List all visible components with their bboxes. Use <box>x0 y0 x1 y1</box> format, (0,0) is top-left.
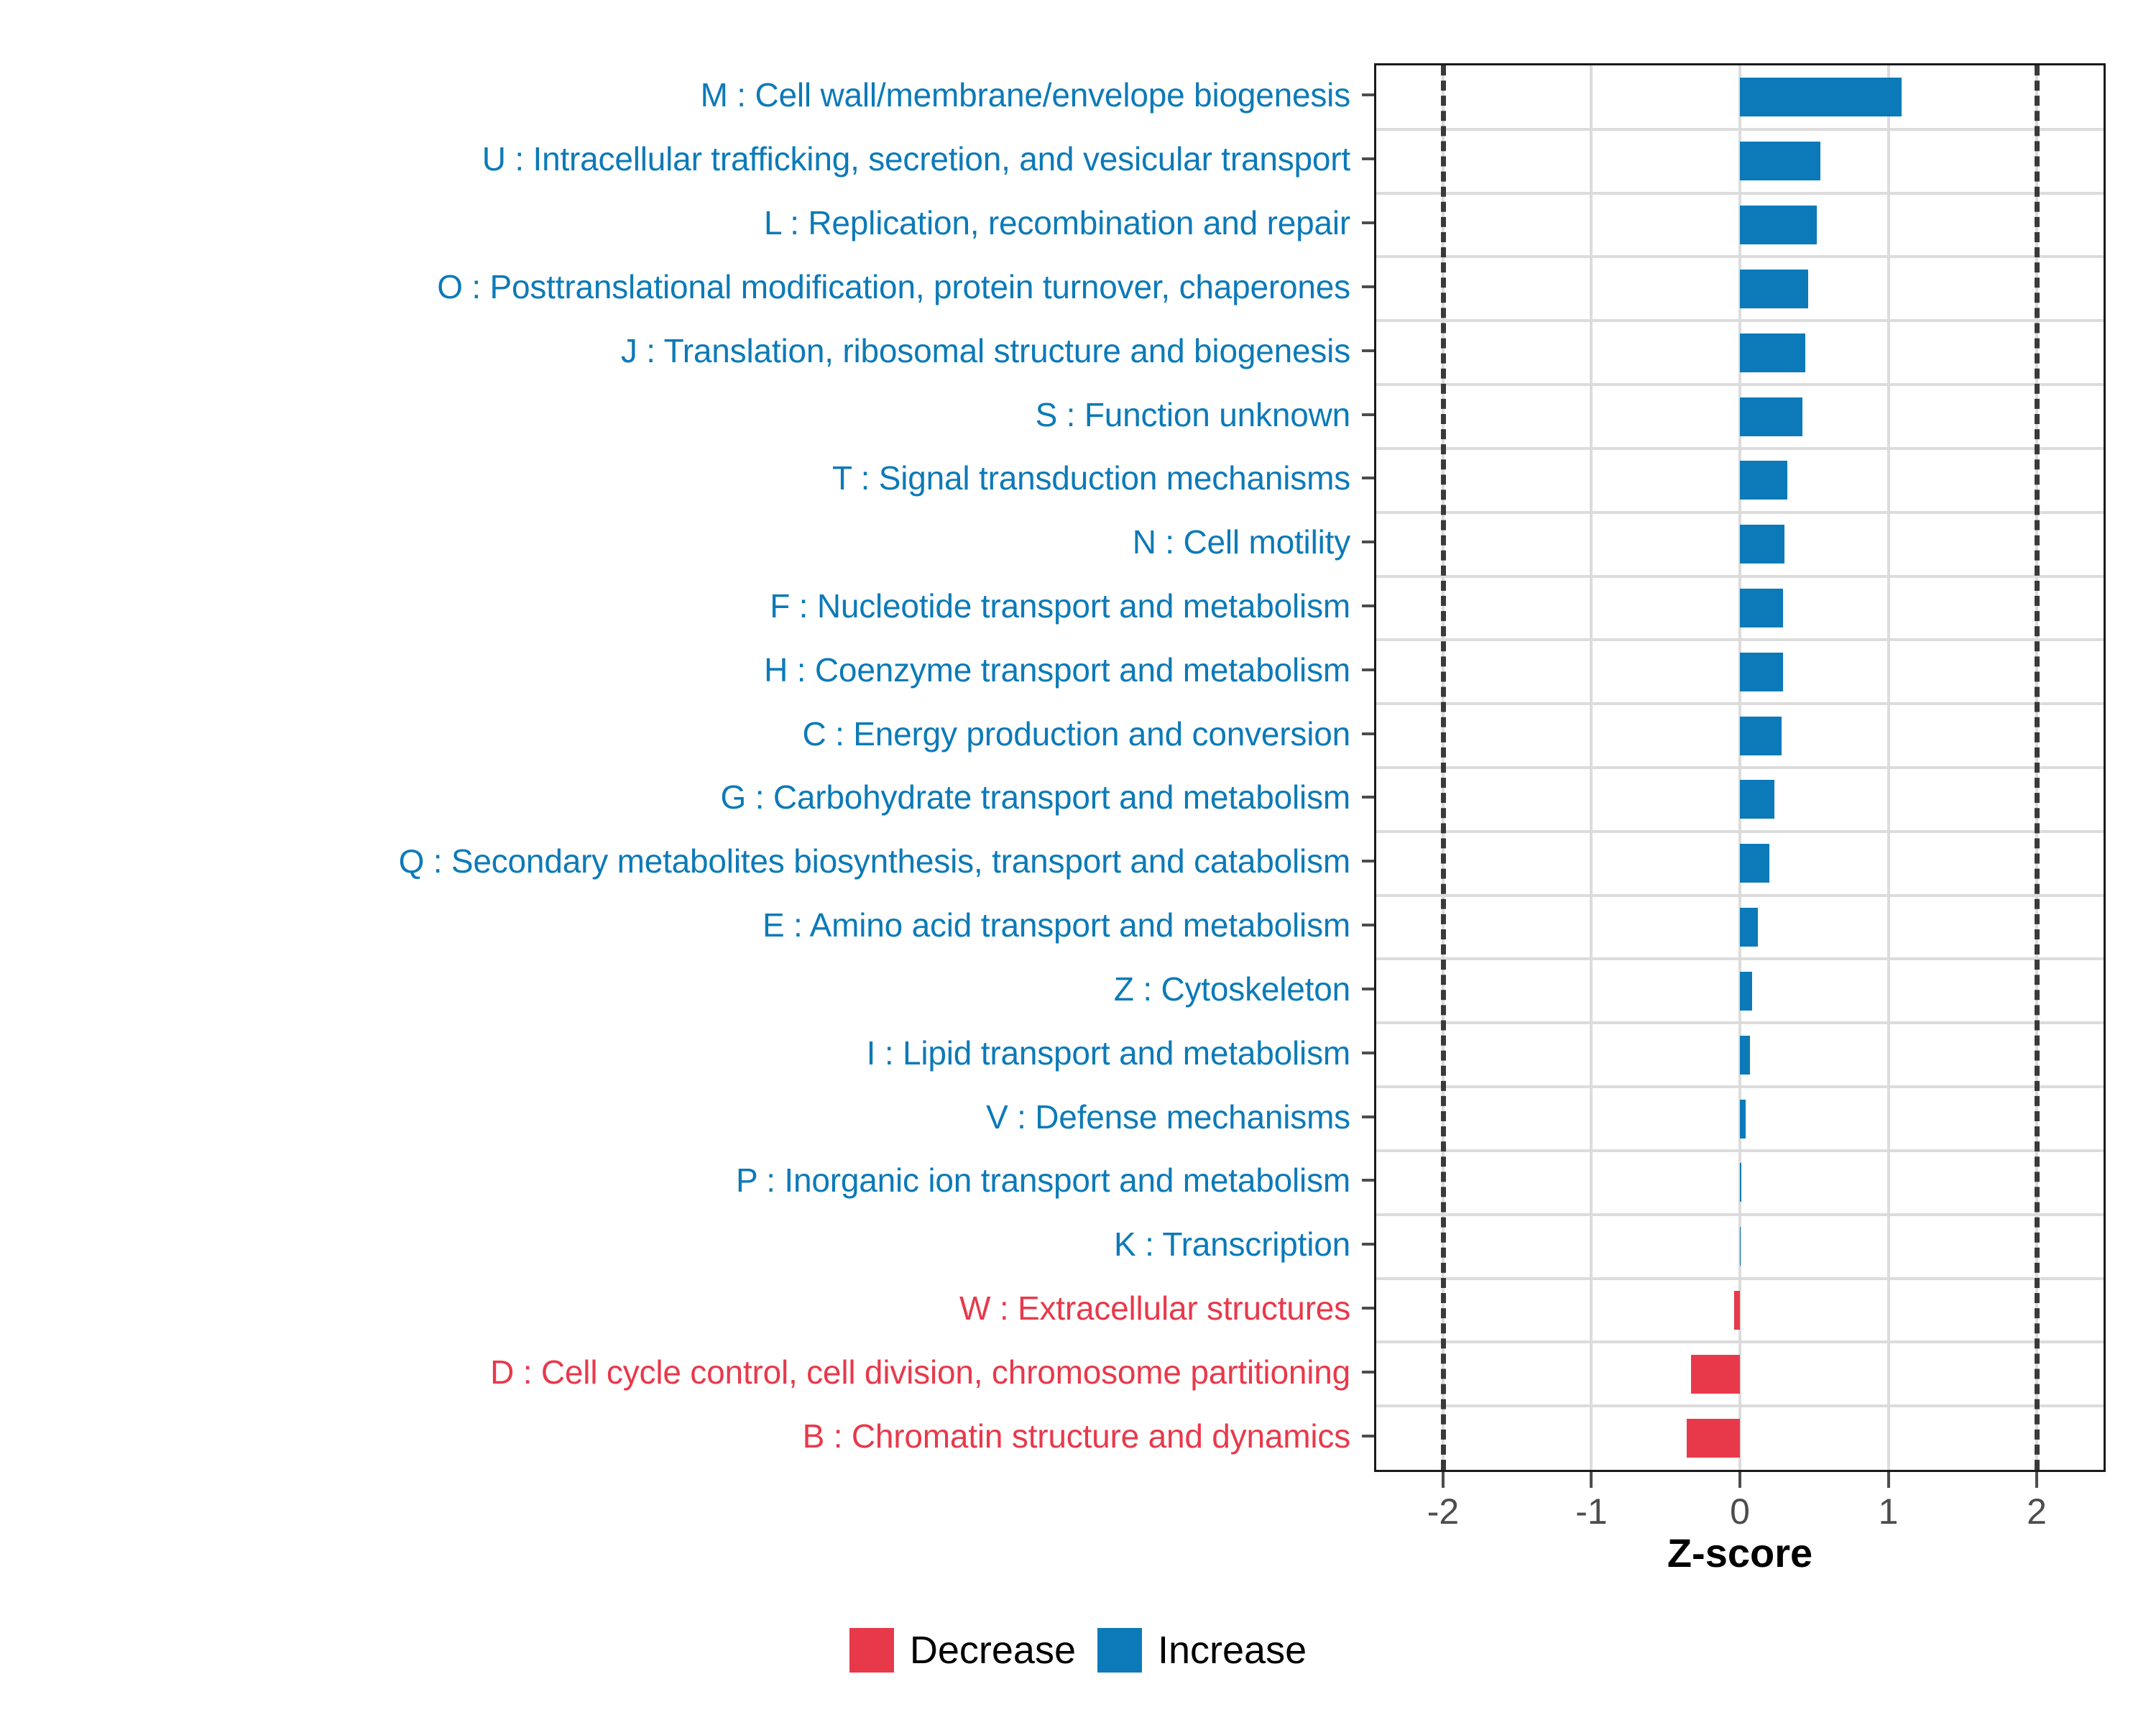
category-label: G : Carbohydrate transport and metabolis… <box>721 781 1350 814</box>
y-axis-tick <box>1362 540 1374 543</box>
category-label: P : Inorganic ion transport and metaboli… <box>736 1164 1350 1197</box>
bar[interactable] <box>1740 1163 1741 1202</box>
category-label-row: M : Cell wall/membrane/envelope biogenes… <box>0 70 1362 119</box>
gridline-horizontal <box>1376 192 2104 195</box>
gridline-horizontal <box>1376 1340 2104 1343</box>
category-label-row: K : Transcription <box>0 1220 1362 1269</box>
bar[interactable] <box>1740 717 1782 755</box>
legend-item-decrease[interactable]: Decrease <box>849 1628 1076 1673</box>
gridline-horizontal <box>1376 319 2104 322</box>
gridline-horizontal <box>1376 766 2104 769</box>
y-axis-tick <box>1362 1435 1374 1437</box>
plot-inner <box>1376 65 2104 1470</box>
reference-line <box>1441 65 1446 1470</box>
category-label: Z : Cytoskeleton <box>1114 972 1350 1006</box>
bar[interactable] <box>1740 589 1783 627</box>
category-label-row: N : Cell motility <box>0 517 1362 566</box>
y-axis-tick <box>1362 93 1374 96</box>
category-label-row: Q : Secondary metabolites biosynthesis, … <box>0 837 1362 885</box>
y-axis-tick <box>1362 988 1374 990</box>
category-label-row: L : Replication, recombination and repai… <box>0 198 1362 247</box>
category-label-row: V : Defense mechanisms <box>0 1092 1362 1141</box>
category-label-row: O : Posttranslational modification, prot… <box>0 262 1362 311</box>
bar[interactable] <box>1740 653 1783 691</box>
category-label-row: J : Translation, ribosomal structure and… <box>0 326 1362 375</box>
y-axis-tick <box>1362 1179 1374 1182</box>
gridline-horizontal <box>1376 1085 2104 1088</box>
category-label: L : Replication, recombination and repai… <box>764 206 1350 239</box>
category-label: O : Posttranslational modification, prot… <box>437 270 1350 303</box>
category-label-row: Z : Cytoskeleton <box>0 965 1362 1013</box>
legend-label-decrease: Decrease <box>910 1628 1076 1673</box>
plot-panel <box>1374 63 2106 1472</box>
bar[interactable] <box>1740 270 1808 308</box>
x-axis-tick <box>1738 1472 1741 1488</box>
y-axis-tick <box>1362 604 1374 607</box>
y-axis-tick <box>1362 157 1374 160</box>
legend: Decrease Increase <box>0 1628 2156 1673</box>
x-axis-title: Z-score <box>1374 1529 2106 1576</box>
gridline-horizontal <box>1376 1277 2104 1280</box>
x-axis-tick-label: 1 <box>1879 1491 1899 1532</box>
bar[interactable] <box>1740 844 1769 883</box>
legend-swatch-increase <box>1097 1628 1142 1673</box>
category-label: U : Intracellular trafficking, secretion… <box>482 142 1350 175</box>
x-axis-tick-label: 2 <box>2027 1491 2047 1532</box>
gridline-horizontal <box>1376 511 2104 514</box>
category-label: F : Nucleotide transport and metabolism <box>770 589 1350 622</box>
legend-swatch-decrease <box>849 1628 894 1673</box>
bar[interactable] <box>1687 1419 1740 1458</box>
category-label: E : Amino acid transport and metabolism <box>763 908 1350 942</box>
bar[interactable] <box>1740 78 1902 116</box>
gridline-horizontal <box>1376 255 2104 258</box>
bar[interactable] <box>1740 1100 1746 1138</box>
gridline-horizontal <box>1376 830 2104 833</box>
y-axis-tick <box>1362 732 1374 735</box>
y-axis-tick <box>1362 1243 1374 1246</box>
category-label: B : Chromatin structure and dynamics <box>803 1420 1350 1453</box>
gridline-horizontal <box>1376 1021 2104 1024</box>
x-axis-tick-label: 0 <box>1730 1491 1750 1532</box>
bar[interactable] <box>1740 525 1784 563</box>
y-axis-tick <box>1362 285 1374 288</box>
y-axis-tick <box>1362 924 1374 926</box>
category-label-row: G : Carbohydrate transport and metabolis… <box>0 773 1362 822</box>
category-label: Q : Secondary metabolites biosynthesis, … <box>399 845 1350 878</box>
category-label: D : Cell cycle control, cell division, c… <box>490 1356 1350 1389</box>
y-axis-tick <box>1362 668 1374 671</box>
category-label: M : Cell wall/membrane/envelope biogenes… <box>701 78 1350 111</box>
category-label: T : Signal transduction mechanisms <box>832 461 1350 494</box>
x-axis-tick <box>1590 1472 1593 1488</box>
category-label: V : Defense mechanisms <box>986 1100 1350 1133</box>
category-label-row: T : Signal transduction mechanisms <box>0 454 1362 502</box>
y-axis-tick <box>1362 413 1374 416</box>
category-label-row: I : Lipid transport and metabolism <box>0 1029 1362 1077</box>
x-axis-tick-label: -2 <box>1427 1491 1459 1532</box>
x-axis-tick <box>1887 1472 1890 1488</box>
x-axis-tick <box>1442 1472 1445 1488</box>
bar[interactable] <box>1740 1036 1750 1075</box>
y-axis-tick <box>1362 477 1374 479</box>
category-label: S : Function unknown <box>1036 398 1350 431</box>
category-label: N : Cell motility <box>1133 525 1350 558</box>
cog-zscore-chart: M : Cell wall/membrane/envelope biogenes… <box>0 0 2156 1725</box>
legend-label-increase: Increase <box>1158 1628 1307 1673</box>
gridline-horizontal <box>1376 383 2104 386</box>
category-label: J : Translation, ribosomal structure and… <box>621 334 1350 367</box>
legend-item-increase[interactable]: Increase <box>1097 1628 1307 1673</box>
category-label-row: C : Energy production and conversion <box>0 709 1362 758</box>
y-axis-tick <box>1362 1052 1374 1054</box>
category-label: H : Coenzyme transport and metabolism <box>764 653 1350 686</box>
gridline-horizontal <box>1376 575 2104 578</box>
bar[interactable] <box>1691 1355 1740 1394</box>
bar[interactable] <box>1734 1291 1740 1330</box>
gridline-horizontal <box>1376 1213 2104 1216</box>
gridline-horizontal <box>1376 1404 2104 1407</box>
gridline-horizontal <box>1376 447 2104 450</box>
category-label-row: W : Extracellular structures <box>0 1284 1362 1333</box>
category-label-row: F : Nucleotide transport and metabolism <box>0 581 1362 630</box>
bar[interactable] <box>1740 972 1752 1011</box>
bar[interactable] <box>1740 1227 1741 1266</box>
gridline-horizontal <box>1376 894 2104 897</box>
bar[interactable] <box>1740 397 1802 436</box>
bar[interactable] <box>1740 333 1805 372</box>
category-label: C : Energy production and conversion <box>803 717 1350 750</box>
category-label-row: P : Inorganic ion transport and metaboli… <box>0 1156 1362 1205</box>
bar[interactable] <box>1740 206 1817 244</box>
category-label-row: B : Chromatin structure and dynamics <box>0 1412 1362 1460</box>
y-axis-tick <box>1362 349 1374 352</box>
gridline-horizontal <box>1376 128 2104 131</box>
category-label-row: H : Coenzyme transport and metabolism <box>0 645 1362 694</box>
gridline-horizontal <box>1376 957 2104 960</box>
category-label-row: E : Amino acid transport and metabolism <box>0 901 1362 949</box>
x-axis-tick <box>2035 1472 2038 1488</box>
bar[interactable] <box>1740 780 1774 819</box>
gridline-horizontal <box>1376 1149 2104 1152</box>
y-axis-tick <box>1362 1371 1374 1374</box>
category-label-row: D : Cell cycle control, cell division, c… <box>0 1348 1362 1397</box>
y-axis-tick <box>1362 860 1374 862</box>
bar[interactable] <box>1740 908 1758 947</box>
y-axis-tick <box>1362 221 1374 224</box>
category-label: I : Lipid transport and metabolism <box>867 1036 1350 1069</box>
x-axis-tick-label: -1 <box>1575 1491 1607 1532</box>
category-label: W : Extracellular structures <box>959 1292 1350 1325</box>
y-axis-tick <box>1362 1307 1374 1310</box>
y-axis-tick <box>1362 1115 1374 1118</box>
category-label: K : Transcription <box>1114 1228 1350 1261</box>
category-label-column: M : Cell wall/membrane/envelope biogenes… <box>0 63 1362 1472</box>
bar[interactable] <box>1740 461 1787 500</box>
category-label-row: S : Function unknown <box>0 390 1362 439</box>
reference-line <box>2035 65 2040 1470</box>
bar[interactable] <box>1740 142 1820 180</box>
gridline-horizontal <box>1376 638 2104 641</box>
category-label-row: U : Intracellular trafficking, secretion… <box>0 134 1362 183</box>
y-axis-tick <box>1362 796 1374 799</box>
gridline-horizontal <box>1376 702 2104 705</box>
